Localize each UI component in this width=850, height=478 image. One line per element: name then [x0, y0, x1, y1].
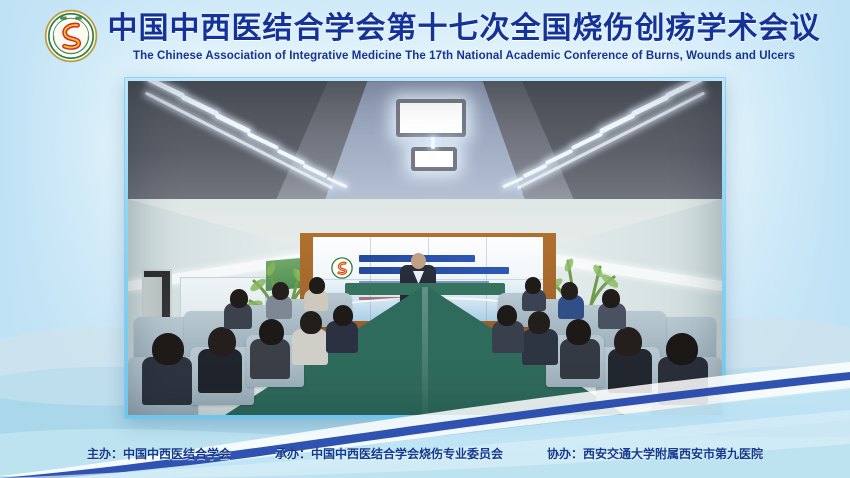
- pendant-light-panel: [396, 99, 466, 137]
- credit-host: 承办：中国中西医结合学会烧伤专业委员会: [275, 445, 503, 462]
- footer-credits: 主办：中国中西医结合学会 承办：中国中西医结合学会烧伤专业委员会 协办：西安交通…: [0, 442, 850, 464]
- audience-person-head: [614, 327, 642, 356]
- speaker-head: [411, 253, 426, 269]
- conference-title-cn: 中国中西医结合学会第十七次全国烧伤创疡学术会议: [108, 12, 821, 46]
- audience-person-head: [300, 311, 322, 334]
- audience-person-head: [566, 319, 591, 345]
- audience-person-head: [333, 305, 353, 326]
- audience-person-head: [309, 277, 325, 294]
- header-titles: 中国中西医结合学会第十七次全国烧伤创疡学术会议 The Chinese Asso…: [108, 12, 821, 64]
- audience-person-head: [230, 289, 248, 308]
- screen-logo-icon: [331, 257, 353, 279]
- credit-organizer: 主办：中国中西医结合学会: [87, 445, 231, 462]
- conference-title-en: The Chinese Association of Integrative M…: [133, 48, 795, 64]
- pendant-light-panel: [411, 147, 457, 171]
- audience-person-head: [602, 289, 620, 308]
- audience-person-head: [208, 327, 236, 356]
- audience-person-head: [561, 282, 578, 300]
- audience-person-head: [528, 311, 550, 334]
- audience-person-head: [272, 282, 289, 300]
- presentation-slide: 中国中西医结合学会第十七次全国烧伤创疡学术会议 The Chinese Asso…: [0, 0, 850, 478]
- association-logo-icon: [44, 9, 98, 63]
- audience-person-head: [259, 319, 284, 345]
- audience-person-head: [497, 305, 517, 326]
- slide-header: 中国中西医结合学会第十七次全国烧伤创疡学术会议 The Chinese Asso…: [0, 0, 850, 76]
- audience-person-head: [525, 277, 541, 294]
- credit-co-organizer: 协办：西安交通大学附属西安市第九医院: [547, 445, 763, 462]
- pendant-light-stem: [431, 137, 435, 149]
